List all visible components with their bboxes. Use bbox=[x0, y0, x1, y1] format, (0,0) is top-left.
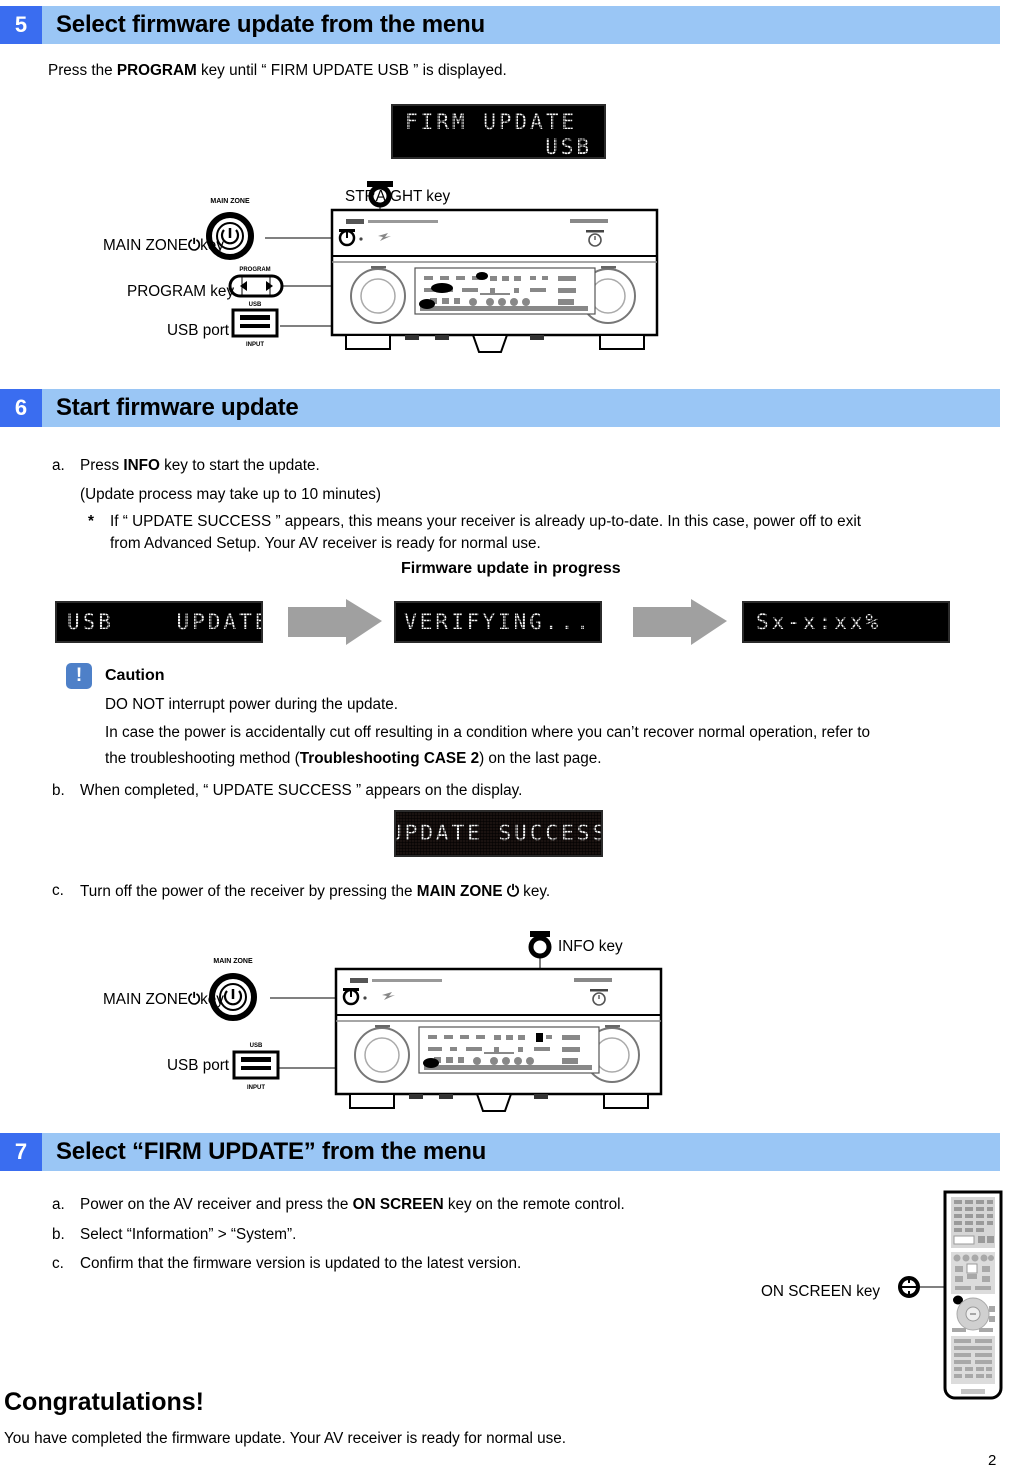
lcd-update-success-text: UPDATE SUCCESS bbox=[394, 821, 603, 846]
step6-a-bold: INFO bbox=[123, 457, 160, 474]
step5-intro-bold: PROGRAM bbox=[117, 62, 197, 79]
step6-c-marker: c. bbox=[52, 880, 64, 902]
callout-program-key: PROGRAM key bbox=[127, 281, 234, 303]
callout-onscreen-key: ON SCREEN key bbox=[761, 1281, 880, 1303]
lcd-usb-update-text: USB UPDATE bbox=[67, 610, 263, 635]
step6-c-post: key. bbox=[519, 883, 550, 900]
callout-key-word-2: key bbox=[200, 991, 224, 1008]
page-number: 2 bbox=[988, 1452, 996, 1469]
caution-line-2a: In case the power is accidentally cut of… bbox=[105, 722, 870, 744]
arrow-1-icon bbox=[288, 599, 382, 652]
callout-mainzone-key-1: MAIN ZONE⏻key bbox=[103, 234, 224, 257]
step6-a-marker: a. bbox=[52, 455, 65, 477]
step6-b-text: When completed, “ UPDATE SUCCESS ” appea… bbox=[80, 780, 522, 802]
callout-info-key: INFO key bbox=[558, 936, 623, 958]
step7-a-text: Power on the AV receiver and press the O… bbox=[80, 1194, 625, 1216]
svg-text:PROGRAM: PROGRAM bbox=[239, 267, 270, 273]
step6-a-pre: Press bbox=[80, 457, 123, 474]
progress-title: Firmware update in progress bbox=[401, 558, 621, 580]
callout-mainzone-text-2: MAIN ZONE bbox=[103, 991, 188, 1008]
callout-key-word-1: key bbox=[200, 237, 224, 254]
caution-title: Caution bbox=[105, 665, 165, 687]
lcd-verifying-text: VERIFYING... bbox=[404, 610, 592, 635]
step5-intro-post: key until “ FIRM UPDATE USB ” is display… bbox=[197, 62, 507, 79]
step6-c-text: Turn off the power of the receiver by pr… bbox=[80, 880, 550, 903]
power-icon: ⏻ bbox=[188, 236, 200, 254]
usb-port-icon-2: USB INPUT bbox=[234, 1043, 278, 1091]
section-title-5: Select firmware update from the menu bbox=[42, 11, 485, 39]
step6-star-line2: from Advanced Setup. Your AV receiver is… bbox=[110, 533, 541, 555]
callout-usb-port-1: USB port bbox=[167, 320, 229, 342]
caution-line-1: DO NOT interrupt power during the update… bbox=[105, 694, 398, 716]
lcd-line-1: FIRM UPDATE bbox=[405, 110, 592, 135]
step6-c-bold: MAIN ZONE bbox=[417, 883, 503, 900]
lcd-verifying: VERIFYING... bbox=[394, 601, 602, 643]
caution-line-2b: the troubleshooting method (Troubleshoot… bbox=[105, 748, 602, 770]
svg-text:MAIN ZONE: MAIN ZONE bbox=[210, 198, 250, 205]
caution-icon: ! bbox=[66, 663, 92, 689]
svg-text:INPUT: INPUT bbox=[246, 342, 264, 348]
lcd-usb-update: USB UPDATE bbox=[55, 601, 263, 643]
step5-intro-pre: Press the bbox=[48, 62, 117, 79]
usb-port-icon: USB INPUT bbox=[233, 302, 277, 348]
svg-text:USB: USB bbox=[250, 1043, 263, 1049]
svg-text:INPUT: INPUT bbox=[247, 1085, 265, 1091]
step6-star-line1: If “ UPDATE SUCCESS ” appears, this mean… bbox=[110, 511, 861, 533]
caution-line-2b-post: ) on the last page. bbox=[479, 750, 601, 767]
power-icon-inline: ⏻ bbox=[507, 882, 519, 900]
congratulations-heading: Congratulations! bbox=[4, 1388, 204, 1417]
program-key-icon: PROGRAM bbox=[230, 267, 282, 296]
info-key-icon bbox=[530, 931, 550, 956]
section-number-7: 7 bbox=[0, 1133, 42, 1171]
caution-line-2b-pre: the troubleshooting method ( bbox=[105, 750, 300, 767]
step7-a-post: key on the remote control. bbox=[444, 1196, 625, 1213]
lcd-progress-text: Sx-x:xx% bbox=[756, 610, 881, 635]
step7-a-marker: a. bbox=[52, 1194, 65, 1216]
lcd-progress-percent: Sx-x:xx% bbox=[742, 601, 950, 643]
section-header-6: 6 Start firmware update bbox=[0, 389, 1000, 427]
svg-text:MAIN ZONE: MAIN ZONE bbox=[213, 958, 253, 965]
step6-a-text: Press INFO key to start the update. bbox=[80, 455, 320, 477]
caution-troubleshooting-ref: Troubleshooting CASE 2 bbox=[300, 750, 479, 767]
step7-b-text: Select “Information” > “System”. bbox=[80, 1224, 296, 1246]
document-page: 5 Select firmware update from the menu P… bbox=[0, 0, 1013, 1477]
svg-text:USB: USB bbox=[249, 302, 262, 308]
remote-control-diagram bbox=[941, 1186, 1005, 1403]
step7-c-text: Confirm that the firmware version is upd… bbox=[80, 1253, 521, 1275]
step6-a-note: (Update process may take up to 10 minute… bbox=[80, 484, 381, 506]
step6-star-marker: * bbox=[88, 511, 94, 533]
section-header-5: 5 Select firmware update from the menu bbox=[0, 6, 1000, 44]
step7-b-marker: b. bbox=[52, 1224, 65, 1246]
section-title-7: Select “FIRM UPDATE” from the menu bbox=[42, 1138, 486, 1166]
step5-intro: Press the PROGRAM key until “ FIRM UPDAT… bbox=[48, 60, 507, 82]
lcd-firm-update-usb: FIRM UPDATE USB bbox=[391, 104, 606, 159]
callout-usb-port-2: USB port bbox=[167, 1055, 229, 1077]
step6-b-marker: b. bbox=[52, 780, 65, 802]
step7-c-marker: c. bbox=[52, 1253, 64, 1275]
power-icon-2: ⏻ bbox=[188, 990, 200, 1008]
section-number-5: 5 bbox=[0, 6, 42, 44]
section-header-7: 7 Select “FIRM UPDATE” from the menu bbox=[0, 1133, 1000, 1171]
arrow-2-icon bbox=[633, 599, 727, 652]
callout-straight-key: STRAIGHT key bbox=[345, 186, 450, 208]
section-title-6: Start firmware update bbox=[42, 394, 299, 422]
footer-body-text: You have completed the firmware update. … bbox=[4, 1428, 566, 1450]
receiver-body bbox=[332, 210, 657, 352]
step6-c-pre: Turn off the power of the receiver by pr… bbox=[80, 883, 417, 900]
callout-mainzone-text-1: MAIN ZONE bbox=[103, 237, 188, 254]
step7-a-pre: Power on the AV receiver and press the bbox=[80, 1196, 353, 1213]
step6-a-post: key to start the update. bbox=[160, 457, 320, 474]
step7-a-bold: ON SCREEN bbox=[353, 1196, 444, 1213]
lcd-line-2: USB bbox=[405, 135, 592, 159]
callout-mainzone-key-2: MAIN ZONE⏻key bbox=[103, 988, 224, 1011]
receiver-body-2 bbox=[336, 969, 661, 1111]
lcd-update-success: UPDATE SUCCESS bbox=[394, 810, 603, 857]
section-number-6: 6 bbox=[0, 389, 42, 427]
